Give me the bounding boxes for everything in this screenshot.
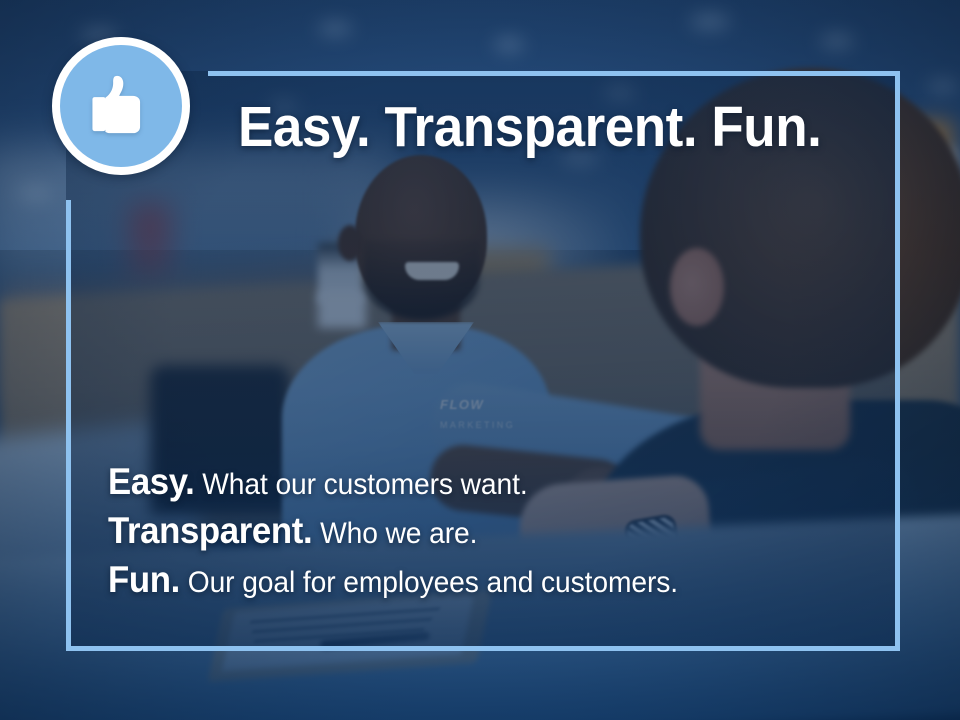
thumbs-up-badge (52, 37, 190, 175)
body-line: Easy. What our customers want. (108, 459, 678, 508)
frame-border-top (208, 71, 900, 76)
frame-border-left (66, 200, 71, 651)
thumbs-up-icon (84, 69, 158, 143)
frame-border-bottom (66, 646, 900, 651)
body-line-lead: Transparent. (108, 510, 312, 551)
body-copy: Easy. What our customers want. Transpare… (108, 459, 714, 606)
frame-border-right (895, 71, 900, 651)
body-line-lead: Fun. (108, 559, 180, 600)
body-line-lead: Easy. (108, 461, 194, 502)
body-line: Transparent. Who we are. (108, 508, 678, 557)
body-line-rest: What our customers want. (202, 468, 527, 501)
headline: Easy. Transparent. Fun. (238, 99, 821, 156)
body-line-rest: Our goal for employees and customers. (188, 566, 678, 599)
banner-canvas: FLOW MARKETING Easy. Tr (0, 0, 960, 720)
body-line: Fun. Our goal for employees and customer… (108, 557, 678, 606)
body-line-rest: Who we are. (320, 517, 477, 550)
